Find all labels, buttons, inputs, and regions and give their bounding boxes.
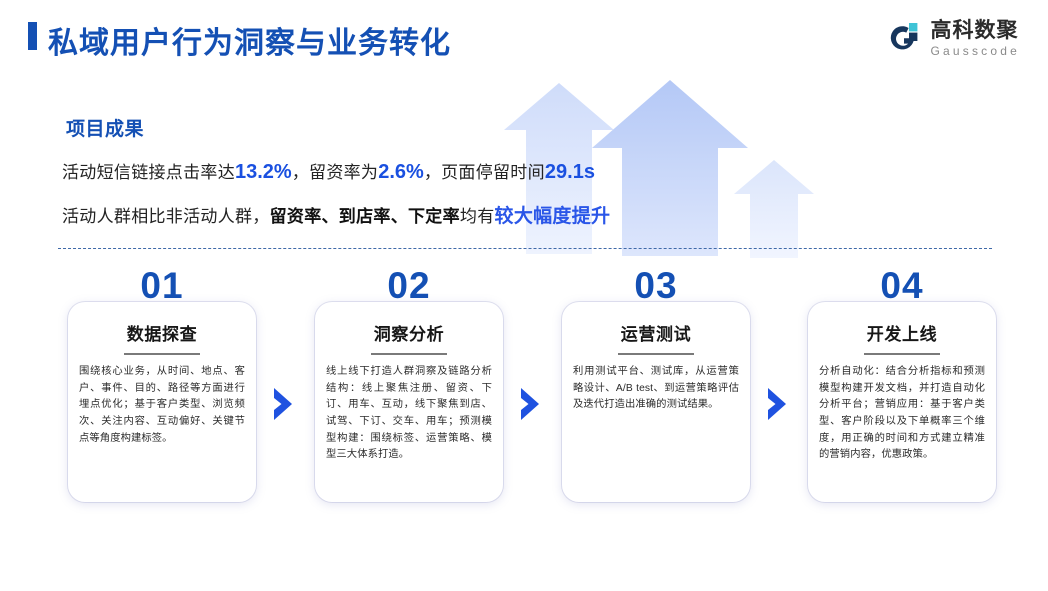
result1-metric-ctr: 13.2% bbox=[235, 161, 292, 183]
step-title-03: 运营测试 bbox=[573, 320, 739, 345]
result1-seg2: ，留资率为 bbox=[292, 163, 379, 182]
slide-root: 私域用户行为洞察与业务转化 高科数聚 Gausscode bbox=[0, 0, 1048, 591]
step-panel-02[interactable]: 洞察分析 线上线下打造人群洞察及链路分析结构：线上聚焦注册、留资、下订、用车、互… bbox=[315, 302, 503, 502]
step-panel-04[interactable]: 开发上线 分析自动化：结合分析指标和预测模型构建开发文档，并打造自动化分析平台；… bbox=[808, 302, 996, 502]
chevron-right-icon-1 bbox=[272, 387, 294, 421]
slide-header: 私域用户行为洞察与业务转化 高科数聚 Gausscode bbox=[0, 0, 1048, 78]
step-body-02: 线上线下打造人群洞察及链路分析结构：线上聚焦注册、留资、下订、用车、互动，线下聚… bbox=[326, 364, 492, 464]
results-heading: 项目成果 bbox=[66, 114, 144, 141]
step-title-01: 数据探查 bbox=[79, 320, 245, 345]
company-logo: 高科数聚 Gausscode bbox=[884, 16, 1020, 60]
logo-name-cn: 高科数聚 bbox=[930, 20, 1020, 41]
logo-name-en: Gausscode bbox=[930, 45, 1020, 57]
result1-metric-lead-rate: 2.6% bbox=[378, 161, 424, 183]
step-card-04[interactable]: 04 开发上线 分析自动化：结合分析指标和预测模型构建开发文档，并打造自动化分析… bbox=[808, 265, 996, 520]
step-panel-03[interactable]: 运营测试 利用测试平台、测试库，从运营策略设计、A/B test、到运营策略评估… bbox=[562, 302, 750, 502]
page-title: 私域用户行为洞察与业务转化 bbox=[48, 18, 451, 62]
step-rule-01 bbox=[124, 353, 200, 355]
result2-seg2: 均有 bbox=[460, 207, 495, 226]
step-rule-04 bbox=[864, 353, 940, 355]
result-line-1: 活动短信链接点击率达13.2%，留资率为2.6%，页面停留时间29.1s bbox=[62, 158, 595, 184]
step-body-01: 围绕核心业务，从时间、地点、客户、事件、目的、路径等方面进行埋点优化；基于客户类… bbox=[79, 364, 245, 447]
result-line-2: 活动人群相比非活动人群，留资率、到店率、下定率均有较大幅度提升 bbox=[62, 201, 610, 228]
step-number-03: 03 bbox=[562, 265, 750, 307]
step-rule-03 bbox=[618, 353, 694, 355]
result1-seg1: 活动短信链接点击率达 bbox=[62, 163, 235, 182]
step-rule-02 bbox=[371, 353, 447, 355]
step-card-03[interactable]: 03 运营测试 利用测试平台、测试库，从运营策略设计、A/B test、到运营策… bbox=[562, 265, 750, 520]
result1-metric-dwell-time: 29.1s bbox=[545, 161, 595, 183]
step-panel-01[interactable]: 数据探查 围绕核心业务，从时间、地点、客户、事件、目的、路径等方面进行埋点优化；… bbox=[68, 302, 256, 502]
gausscode-logo-icon bbox=[884, 21, 922, 55]
title-accent-bar bbox=[28, 22, 37, 50]
step-card-02[interactable]: 02 洞察分析 线上线下打造人群洞察及链路分析结构：线上聚焦注册、留资、下订、用… bbox=[315, 265, 503, 520]
step-number-02: 02 bbox=[315, 265, 503, 307]
step-number-04: 04 bbox=[808, 265, 996, 307]
section-divider bbox=[58, 248, 992, 249]
chevron-right-icon-3 bbox=[766, 387, 788, 421]
result2-highlight: 较大幅度提升 bbox=[495, 206, 611, 227]
project-results-block: 项目成果 活动短信链接点击率达13.2%，留资率为2.6%，页面停留时间29.1… bbox=[0, 100, 1048, 250]
step-body-04: 分析自动化：结合分析指标和预测模型构建开发文档，并打造自动化分析平台；营销应用：… bbox=[819, 364, 985, 464]
step-body-03: 利用测试平台、测试库，从运营策略设计、A/B test、到运营策略评估及迭代打造… bbox=[573, 364, 739, 414]
step-title-02: 洞察分析 bbox=[326, 320, 492, 345]
step-card-01[interactable]: 01 数据探查 围绕核心业务，从时间、地点、客户、事件、目的、路径等方面进行埋点… bbox=[68, 265, 256, 520]
result1-seg3: ，页面停留时间 bbox=[424, 163, 545, 182]
step-number-01: 01 bbox=[68, 265, 256, 307]
chevron-right-icon-2 bbox=[519, 387, 541, 421]
logo-wordmark: 高科数聚 Gausscode bbox=[930, 20, 1020, 57]
process-steps: 01 数据探查 围绕核心业务，从时间、地点、客户、事件、目的、路径等方面进行埋点… bbox=[0, 265, 1048, 525]
result2-metrics: 留资率、到店率、下定率 bbox=[270, 207, 460, 226]
step-title-04: 开发上线 bbox=[819, 320, 985, 345]
result2-seg1: 活动人群相比非活动人群， bbox=[62, 207, 270, 226]
